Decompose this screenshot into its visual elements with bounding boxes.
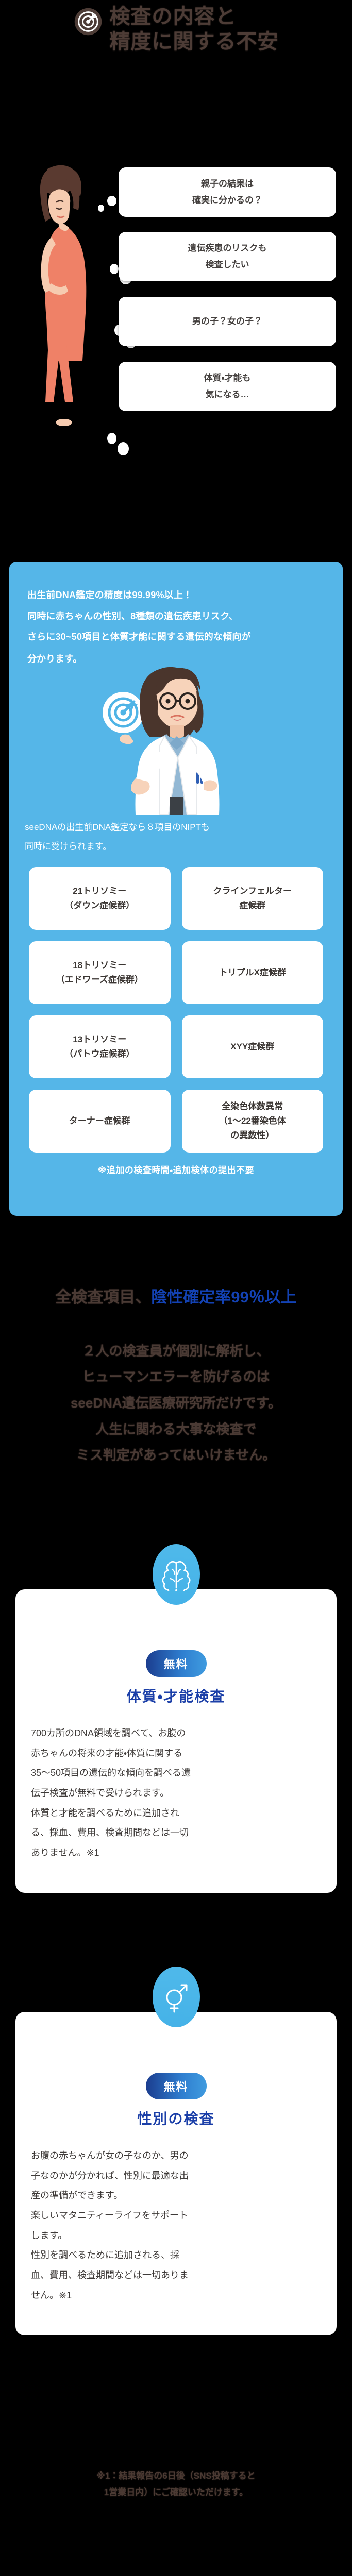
card-body-line6: る、採血、費用、検査期間などは一切 [31, 1823, 321, 1843]
speech-bubble-4-line2: 気になる… [206, 386, 249, 403]
card-body-line7: ありません。※1 [31, 1843, 321, 1863]
blue-panel-note: ※追加の検査時間・追加検体の提出不要 [9, 1153, 343, 1176]
blue-panel-lead: 出生前DNA鑑定の精度は99.99%以上！ 同時に赤ちゃんの性別、8種類の遺伝疾… [9, 562, 343, 648]
footnote-section: ※1：結果報告の6日後（SNS投稿すると 1営業日内）にご確認いただけます。 [0, 2468, 352, 2501]
card-body-line3: 35〜50項目の遺伝的な傾向を調べる遺 [31, 1763, 321, 1783]
thought-dot [98, 205, 104, 212]
blue-info-panel: 出生前DNA鑑定の精度は99.99%以上！ 同時に赤ちゃんの性別、8種類の遺伝疾… [9, 562, 343, 1216]
card-body-line5: 体質と才能を調べるために追加され [31, 1803, 321, 1823]
condition-line1: XYY症候群 [230, 1040, 274, 1054]
speech-bubble-1-line1: 親子の結果は [201, 176, 254, 192]
speech-bubble-3-line1: 男の子？女の子？ [192, 313, 262, 330]
condition-line1: クラインフェルター [213, 884, 292, 899]
footnote-line2: 1営業日内）にご確認いただけます。 [0, 2484, 352, 2501]
blue-panel-sub: seeDNAの出生前DNA鑑定なら８項目のNIPTも 同時に受けられます。 [9, 815, 343, 856]
card-container: 無料 性別の検査 お腹の赤ちゃんが女の子なのか、男の 子なのかが分かれば、性別に… [15, 2012, 337, 2335]
dark-body-line5: ミス判定があってはいけません。 [0, 1442, 352, 1468]
dark-body-line4: 人生に関わる大事な検査で [0, 1416, 352, 1443]
dark-copy-section: 全検査項目、陰性確定率99％以上 ２人の検査員が個別に解析し、 ヒューマンエラー… [0, 1236, 352, 1468]
dark-body-line1: ２人の検査員が個別に解析し、 [0, 1338, 352, 1364]
card-body-line3: 産の準備ができます。 [31, 2185, 321, 2206]
speech-bubble-1-line2: 確実に分かるの？ [192, 192, 262, 209]
condition-line1: 18トリソミー [73, 958, 126, 973]
condition-cell: 13トリソミー （パトウ症候群） [29, 1015, 171, 1078]
card-body-line1: お腹の赤ちゃんが女の子なのか、男の [31, 2146, 321, 2166]
blue-lead-line3: さらに30~50項目と体質才能に関する遺伝的な傾向が [27, 626, 325, 648]
card-body-line2: 赤ちゃんの将来の才能・体質に関する [31, 1743, 321, 1764]
condition-grid: 21トリソミー （ダウン症候群） クラインフェルター 症候群 18トリソミー （… [9, 856, 343, 1153]
card-body-line4: 楽しいマタニティーライフをサポート [31, 2206, 321, 2226]
hero-title-block: 検査の内容と 精度に関する不安 [0, 4, 352, 55]
card-body-line4: 伝子検査が無料で受けられます。 [31, 1783, 321, 1803]
dark-body-line3: seeDNA遺伝医療研究所だけです。 [0, 1390, 352, 1416]
speech-bubble-3: 男の子？女の子？ [119, 297, 336, 346]
dark-heading-accent: 陰性確定率99％以上 [151, 1288, 296, 1306]
condition-cell: トリプルX症候群 [182, 941, 324, 1004]
page-title: 検査の内容と 精度に関する不安 [110, 4, 279, 55]
card-body: お腹の赤ちゃんが女の子なのか、男の 子なのかが分かれば、性別に最適な出 産の準備… [31, 2146, 321, 2306]
feature-card-gender: 無料 性別の検査 お腹の赤ちゃんが女の子なのか、男の 子なのかが分かれば、性別に… [0, 2012, 352, 2335]
hero-section: 検査の内容と 精度に関する不安 親子の結果は 確実に分かるの？ 遺伝疾患のリスク… [0, 0, 352, 510]
target-icon [74, 7, 103, 36]
card-title: 体質・才能検査 [31, 1685, 321, 1706]
condition-cell: XYY症候群 [182, 1015, 324, 1078]
thought-dot [110, 264, 119, 274]
condition-line2: （パトウ症候群） [64, 1047, 135, 1061]
thought-dot [107, 433, 116, 444]
free-badge: 無料 [146, 2073, 207, 2099]
card-body-line7: 血、費用、検査期間などは一切ありま [31, 2265, 321, 2285]
card-body-line1: 700カ所のDNA領域を調べて、お腹の [31, 1723, 321, 1743]
card-body-line2: 子なのかが分かれば、性別に最適な出 [31, 2166, 321, 2186]
condition-line1: トリプルX症候群 [219, 965, 286, 980]
condition-line1: ターナー症候群 [69, 1114, 130, 1128]
gender-icon [153, 1967, 200, 2027]
blue-sub-line1: seeDNAの出生前DNA鑑定なら８項目のNIPTも [25, 818, 327, 837]
condition-line2: 症候群 [239, 899, 265, 913]
doctor-illustration [65, 650, 287, 815]
thought-dot [118, 442, 129, 455]
card-container: 無料 体質・才能検査 700カ所のDNA領域を調べて、お腹の 赤ちゃんの将来の才… [15, 1589, 337, 1893]
card-body-line6: 性別を調べるために追加される、採 [31, 2245, 321, 2265]
condition-cell: クラインフェルター 症候群 [182, 867, 324, 930]
dark-heading: 全検査項目、陰性確定率99％以上 [0, 1236, 352, 1310]
hero-title-line1: 検査の内容と [110, 4, 279, 29]
dark-heading-plain: 全検査項目、 [55, 1288, 151, 1306]
brain-icon [153, 1544, 200, 1605]
blue-sub-line2: 同時に受けられます。 [25, 837, 327, 856]
speech-bubble-4-line1: 体質・才能も [204, 370, 251, 386]
feature-card-constitution-talent: 無料 体質・才能検査 700カ所のDNA領域を調べて、お腹の 赤ちゃんの将来の才… [0, 1589, 352, 1893]
condition-cell: 21トリソミー （ダウン症候群） [29, 867, 171, 930]
blue-lead-line1: 出生前DNA鑑定の精度は99.99%以上！ [27, 585, 325, 606]
blue-lead-line2: 同時に赤ちゃんの性別、8種類の遺伝疾患リスク、 [27, 606, 325, 627]
card-body: 700カ所のDNA領域を調べて、お腹の 赤ちゃんの将来の才能・体質に関する 35… [31, 1723, 321, 1863]
free-badge: 無料 [146, 1650, 207, 1677]
condition-line2: （ダウン症候群） [64, 899, 135, 913]
speech-bubble-2-line2: 検査したい [206, 257, 249, 273]
condition-line3: の異数性） [230, 1128, 274, 1143]
condition-line1: 全染色体数異常 [222, 1099, 283, 1114]
condition-line2: （エドワーズ症候群） [56, 973, 143, 987]
pregnant-woman-illustration [27, 155, 104, 443]
condition-line1: 21トリソミー [73, 884, 126, 899]
speech-bubble-2: 遺伝疾患のリスクも 検査したい [119, 232, 336, 281]
footnote-line1: ※1：結果報告の6日後（SNS投稿すると [0, 2468, 352, 2484]
condition-line1: 13トリソミー [73, 1032, 126, 1047]
card-body-line5: します。 [31, 2226, 321, 2246]
speech-bubble-4: 体質・才能も 気になる… [119, 362, 336, 411]
dark-body-line2: ヒューマンエラーを防げるのは [0, 1364, 352, 1390]
card-title: 性別の検査 [31, 2108, 321, 2128]
dark-body: ２人の検査員が個別に解析し、 ヒューマンエラーを防げるのは seeDNA遺伝医療… [0, 1310, 352, 1468]
condition-line2: （1〜22番染色体 [219, 1114, 286, 1128]
card-body-line8: せん。※1 [31, 2285, 321, 2306]
condition-cell: ターナー症候群 [29, 1090, 171, 1153]
hero-title-line2: 精度に関する不安 [110, 29, 279, 55]
condition-cell: 全染色体数異常 （1〜22番染色体 の異数性） [182, 1090, 324, 1153]
doctor-illustration-area: 分かります。 [9, 650, 343, 815]
thought-dot [107, 196, 116, 206]
speech-bubble-1: 親子の結果は 確実に分かるの？ [119, 167, 336, 217]
speech-bubble-2-line1: 遺伝疾患のリスクも [188, 240, 267, 257]
condition-cell: 18トリソミー （エドワーズ症候群） [29, 941, 171, 1004]
